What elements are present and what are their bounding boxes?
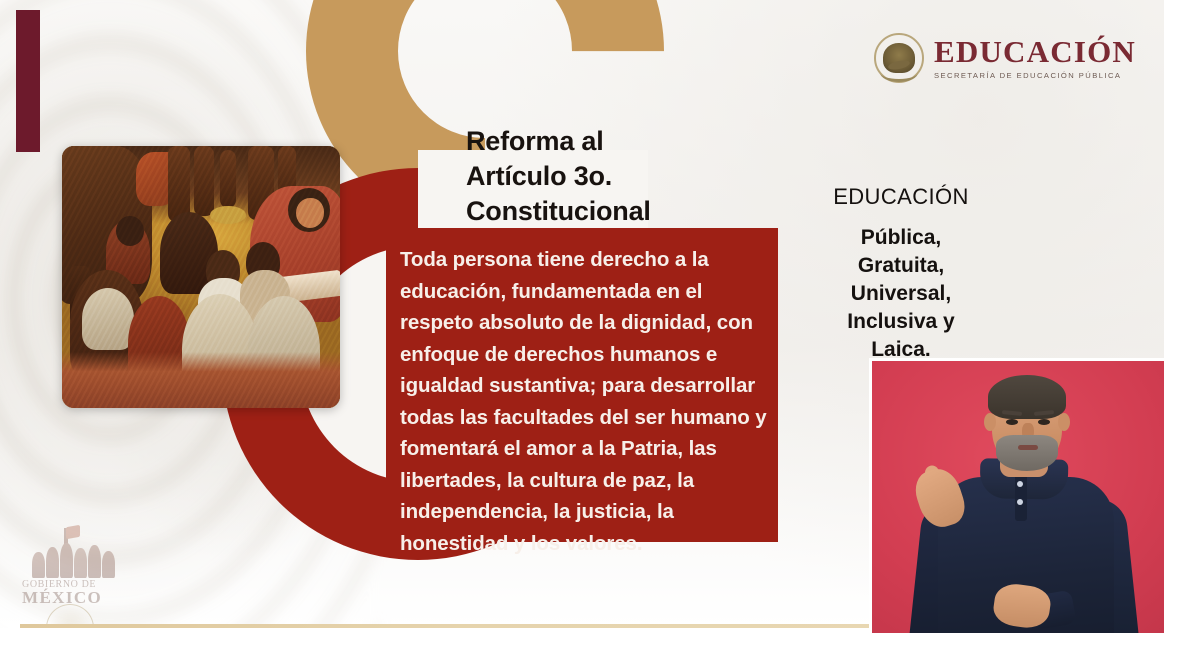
interpreter-eye [1038,419,1050,425]
watermark-line-2: MÉXICO [22,591,132,604]
right-gutter [1164,0,1184,657]
coat-of-arms-wreath [880,63,918,82]
left-accent-bar [16,10,40,152]
education-attribute-item: Gratuita, [788,252,1014,280]
interpreter-hair [988,375,1066,419]
constitutional-quote-text: Toda persona tiene derecho a la educació… [400,244,768,559]
education-attribute-item: Pública, [788,224,1014,252]
watermark-figures [30,538,126,578]
education-attributes-column: EDUCACIÓN Pública, Gratuita, Universal, … [788,184,1014,364]
interpreter-eye [1006,419,1018,425]
coat-of-arms-icon [874,33,924,83]
education-attributes-list: Pública, Gratuita, Universal, Inclusiva … [788,224,1014,364]
sep-logo-text: EDUCACIÓN SECRETARÍA DE EDUCACIÓN PÚBLIC… [934,36,1136,80]
interpreter-ear [1058,413,1070,431]
education-heading: EDUCACIÓN [788,184,1014,210]
watermark-figure [32,552,45,578]
watermark-flag [66,525,80,539]
page-title-line-3: Constitucional [466,194,766,229]
sign-language-interpreter-inset [869,358,1170,636]
watermark-figure [46,547,59,578]
mural-image [62,146,340,408]
education-attribute-item: Universal, [788,280,1014,308]
watermark-figure [60,543,73,578]
mural-texture [62,146,340,408]
sep-logo-subtitle: SECRETARÍA DE EDUCACIÓN PÚBLICA [934,71,1136,80]
gobierno-de-mexico-watermark: GOBIERNO DE MÉXICO [22,538,132,610]
interpreter-shirt-button [1017,481,1023,487]
sep-logo-wordmark: EDUCACIÓN [934,36,1136,67]
watermark-text: GOBIERNO DE MÉXICO [22,578,132,604]
page-title: Reforma al Artículo 3o. Constitucional [466,124,766,229]
interpreter-shirt-button [1017,499,1023,505]
page-title-line-2: Artículo 3o. [466,159,766,194]
education-attribute-item: Inclusiva y [788,308,1014,336]
page-title-line-1: Reforma al [466,124,766,159]
interpreter-mouth [1018,445,1038,450]
watermark-figure [102,551,115,578]
interpreter-beard [996,435,1058,471]
watermark-figure [88,545,101,578]
watermark-figure [74,548,87,578]
interpreter-ear [984,413,996,431]
constitutional-quote-panel: Toda persona tiene derecho a la educació… [386,228,778,542]
sep-logo: EDUCACIÓN SECRETARÍA DE EDUCACIÓN PÚBLIC… [874,30,1096,86]
